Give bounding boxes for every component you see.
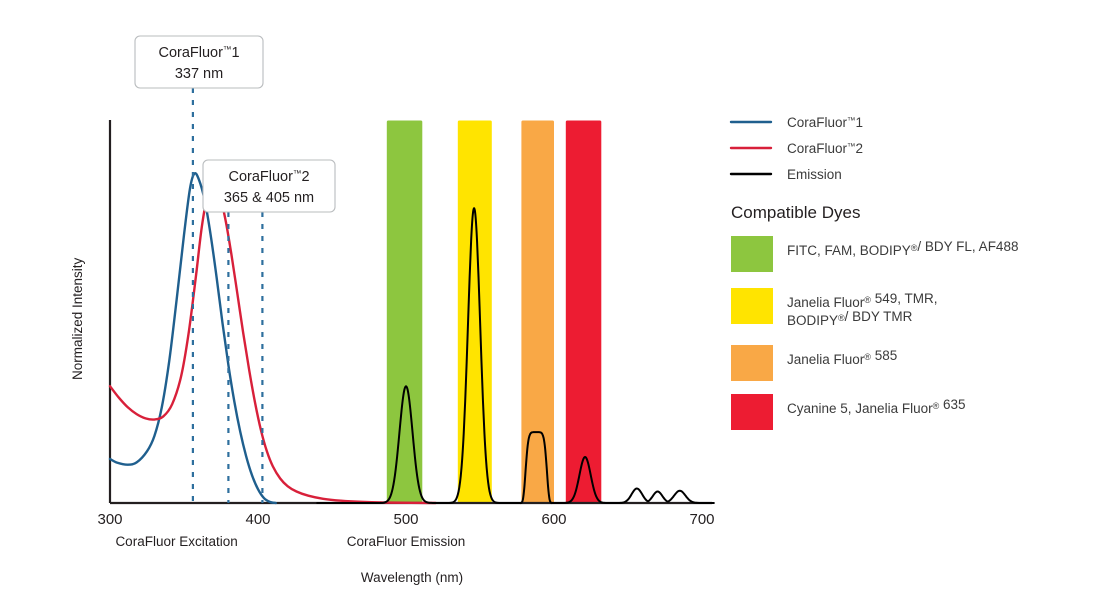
- x-tick-group: 300400500600700: [97, 511, 714, 528]
- x-tick-label: 600: [541, 511, 566, 528]
- x-tick-label: 500: [393, 511, 418, 528]
- red-band: [566, 121, 602, 504]
- spectra-svg: CoraFluor™1337 nmCoraFluor™2365 & 405 nm…: [0, 0, 1110, 612]
- legend-item-label: CoraFluor™2: [787, 141, 863, 156]
- orange-band: [521, 121, 554, 504]
- dye-color-swatch: [731, 394, 773, 430]
- series-legend: CoraFluor™1CoraFluor™2Emission: [731, 115, 863, 182]
- y-axis-title: Normalized Intensity: [70, 257, 85, 380]
- dye-color-swatch: [731, 345, 773, 381]
- region-label: CoraFluor Emission: [347, 534, 466, 549]
- dye-label: Janelia Fluor® 549, TMR,: [787, 291, 937, 310]
- dye-label: Janelia Fluor® 585: [787, 348, 897, 367]
- dye-legend: FITC, FAM, BODIPY®/ BDY FL, AF488Janelia…: [731, 236, 1018, 430]
- dye-label: Cyanine 5, Janelia Fluor® 635: [787, 397, 966, 416]
- fluorescence-spectra-figure: CoraFluor™1337 nmCoraFluor™2365 & 405 nm…: [0, 0, 1110, 612]
- emission-band-group: [387, 121, 602, 504]
- excitation-callout-line2: 337 nm: [175, 66, 223, 82]
- legend-item-label: Emission: [787, 167, 842, 182]
- x-tick-label: 700: [689, 511, 714, 528]
- dye-label: FITC, FAM, BODIPY®/ BDY FL, AF488: [787, 239, 1018, 258]
- x-tick-label: 300: [97, 511, 122, 528]
- dye-label: BODIPY®/ BDY TMR: [787, 309, 913, 328]
- x-axis-title: Wavelength (nm): [361, 570, 463, 585]
- excitation-callout-line2: 365 & 405 nm: [224, 190, 314, 206]
- green-band: [387, 121, 423, 504]
- excitation-marker-group: CoraFluor™1337 nmCoraFluor™2365 & 405 nm: [135, 36, 335, 503]
- curve-series-2: [317, 208, 714, 503]
- legend-item-label: CoraFluor™1: [787, 115, 863, 130]
- curve-series-1: [110, 185, 436, 503]
- x-tick-label: 400: [245, 511, 270, 528]
- region-label-group: CoraFluor ExcitationCoraFluor Emission: [115, 534, 465, 549]
- compatible-dyes-heading: Compatible Dyes: [731, 203, 860, 222]
- dye-color-swatch: [731, 288, 773, 324]
- dye-color-swatch: [731, 236, 773, 272]
- region-label: CoraFluor Excitation: [115, 534, 237, 549]
